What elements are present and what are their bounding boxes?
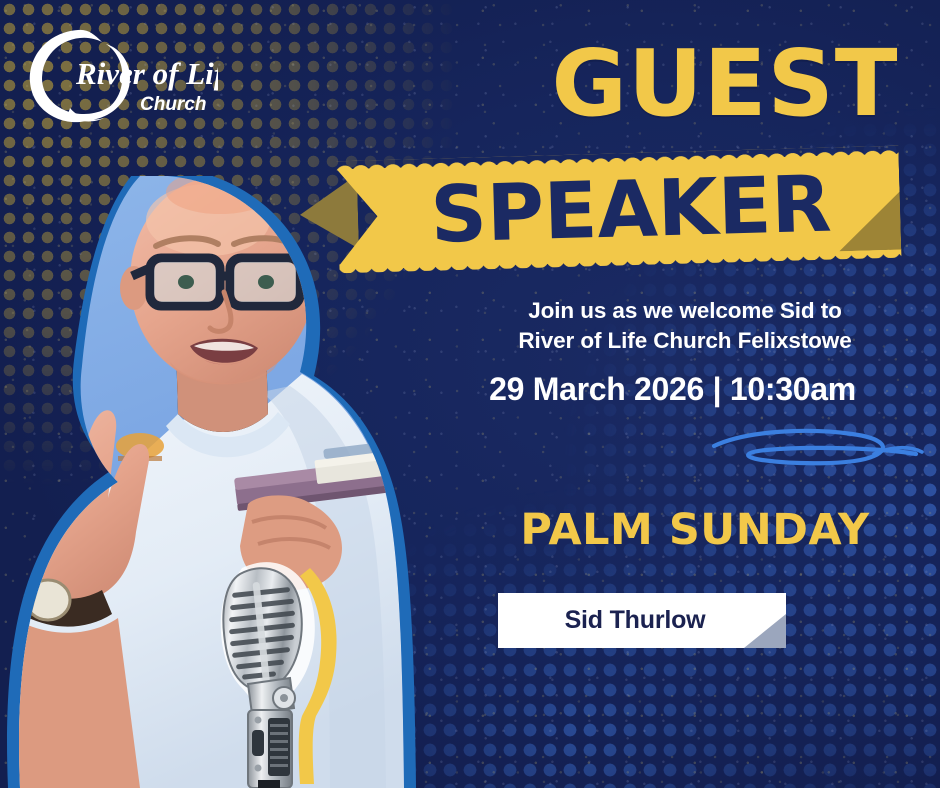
subheadline-line-1: Join us as we welcome Sid to (470, 296, 900, 326)
blue-squiggle-flourish-icon (706, 424, 928, 486)
headline-guest: GUEST (540, 42, 910, 127)
logo-line1: River of Life (75, 56, 218, 91)
event-poster: River of Life Church GUEST SPEAKER Join … (0, 0, 940, 788)
event-datetime: 29 March 2026 | 10:30am (440, 371, 905, 408)
subheadline: Join us as we welcome Sid to River of Li… (470, 296, 900, 355)
subheadline-line-2: River of Life Church Felixstowe (470, 326, 900, 356)
logo-line2: Church (140, 94, 207, 115)
speaker-nameplate: Sid Thurlow (498, 593, 786, 648)
speaker-name: Sid Thurlow (498, 593, 786, 648)
vintage-microphone-icon (196, 552, 346, 788)
river-of-life-church-logo: River of Life Church (18, 24, 218, 132)
occasion-label: PALM SUNDAY (485, 505, 905, 555)
speaker-ribbon-banner: SPEAKER (298, 140, 901, 281)
headline-speaker: SPEAKER (395, 163, 867, 258)
ribbon-fold-left (299, 175, 359, 251)
